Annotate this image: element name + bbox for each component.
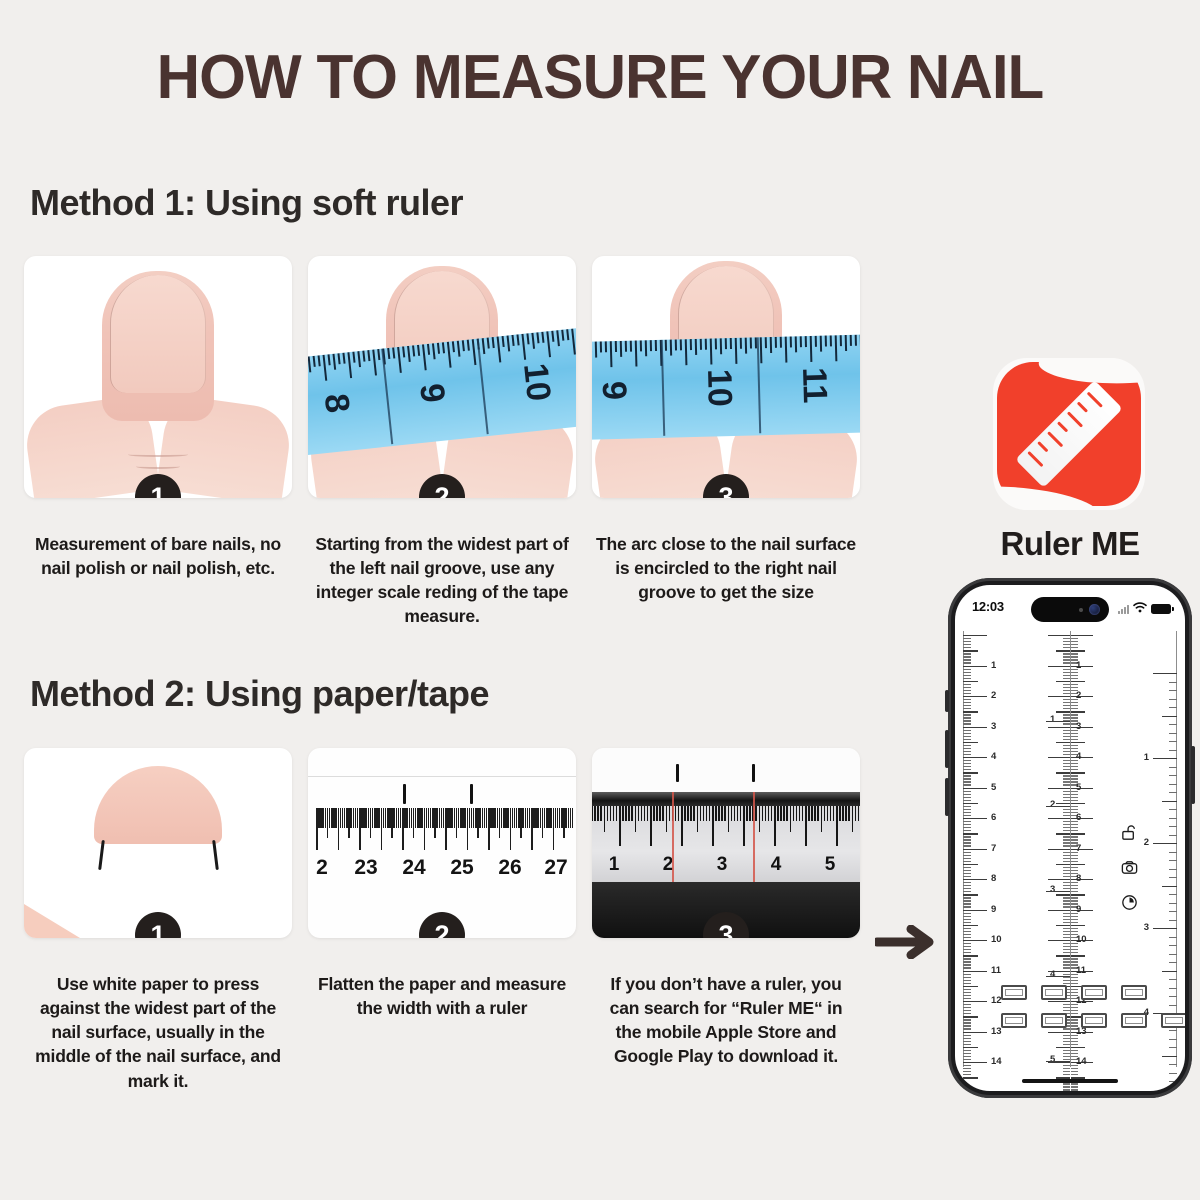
step-caption: The arc close to the nail surface is enc…: [592, 532, 860, 604]
step-card: 1 Measurement of bare nails, no nail pol…: [24, 256, 292, 629]
phone-ruler-photo: 1 2 3 4 5 3: [592, 748, 860, 938]
sensor-dot-icon: [1079, 608, 1083, 612]
step-caption: If you don’t have a ruler, you can searc…: [592, 972, 860, 1069]
silent-switch[interactable]: [945, 690, 949, 712]
tape-ticks: [592, 334, 860, 372]
pen-mark: [470, 784, 473, 804]
pen-mark: [403, 784, 406, 804]
pen-mark: [98, 840, 105, 870]
tape-measure-left-photo: 8 9 10 2: [308, 256, 576, 498]
volume-up-button[interactable]: [945, 730, 949, 768]
pen-mark: [752, 764, 755, 782]
nail-on-paper-photo: 1: [24, 748, 292, 938]
measurement-chip-row: [1001, 985, 1147, 1000]
ruler-numbers: 2 23 24 25 26 27: [316, 856, 568, 886]
ruler-scale-right: 12345: [1105, 631, 1177, 1067]
status-bar-indicators: [1118, 600, 1171, 618]
ruler-scale-center: 123456789101112131412345: [1024, 631, 1116, 1067]
measurement-chip: [1041, 985, 1067, 1000]
camera-icon[interactable]: [1120, 858, 1139, 877]
tape-number: 9: [411, 382, 452, 405]
ruler-number: 4: [771, 854, 782, 876]
ruler-number: 1: [609, 854, 620, 876]
ruler-number: 3: [717, 854, 728, 876]
tape-number: 9: [594, 381, 633, 401]
bare-nail-photo: 1: [24, 256, 292, 498]
ruler-number: 23: [354, 856, 377, 880]
printed-ruler-photo: 2 23 24 25 26 27 2: [308, 748, 576, 938]
measurement-marker: [672, 792, 674, 884]
app-name-label: Ruler ME: [930, 525, 1200, 563]
method-1-heading: Method 1: Using soft ruler: [30, 182, 463, 224]
method-1-steps: 1 Measurement of bare nails, no nail pol…: [24, 256, 860, 629]
step-caption: Flatten the paper and measure the width …: [308, 972, 576, 1020]
method-2-steps: 1 Use white paper to press against the w…: [24, 748, 860, 1093]
measurement-chip: [1081, 1013, 1107, 1028]
wifi-icon: [1133, 600, 1147, 618]
step-card: 1 Use white paper to press against the w…: [24, 748, 292, 1093]
finger-crease: [136, 464, 180, 469]
step-badge: 1: [135, 912, 181, 938]
phone-bezel: [592, 792, 860, 806]
cellular-signal-icon: [1118, 605, 1129, 614]
dynamic-island: [1031, 597, 1109, 622]
thumb-illustration: [24, 256, 292, 498]
finger-corner: [24, 904, 80, 938]
front-camera-icon: [1089, 604, 1100, 615]
step-card: 9 10 11 3 The arc close to the nail surf…: [592, 256, 860, 629]
step-card: 2 23 24 25 26 27 2 Flatten the paper and…: [308, 748, 576, 1093]
ruler-app-icon[interactable]: [993, 358, 1145, 510]
step-caption: Measurement of bare nails, no nail polis…: [24, 532, 292, 580]
measurement-chip-row: [1001, 1013, 1185, 1028]
paper-background: [592, 748, 860, 792]
nail-imprint: [94, 766, 222, 844]
method-2-heading: Method 2: Using paper/tape: [30, 673, 489, 715]
ruler-number: 26: [498, 856, 521, 880]
volume-down-button[interactable]: [945, 778, 949, 816]
pen-mark: [212, 840, 219, 870]
step-caption: Use white paper to press against the wid…: [24, 972, 292, 1093]
phone-ruler-scale: 1 2 3 4 5: [592, 806, 860, 882]
power-button[interactable]: [1191, 746, 1195, 804]
unlock-icon[interactable]: [1120, 823, 1139, 842]
ruler-number: 24: [402, 856, 425, 880]
tape-number: 8: [316, 392, 357, 415]
ruler-number: 27: [544, 856, 567, 880]
measurement-marker: [753, 792, 755, 884]
step-caption: Starting from the widest part of the lef…: [308, 532, 576, 629]
tape-number: 10: [699, 368, 739, 407]
paper-edge: [308, 776, 576, 777]
measurement-chip: [1001, 985, 1027, 1000]
step-card: 8 9 10 2 Starting from the widest part o…: [308, 256, 576, 629]
tool-icon-group: [1120, 823, 1139, 912]
battery-icon: [1151, 604, 1171, 614]
measurement-chip: [1121, 1013, 1147, 1028]
pen-mark: [676, 764, 679, 782]
tape-measure: 9 10 11: [592, 334, 860, 440]
status-bar-clock: 12:03: [972, 599, 1004, 614]
phone-screen: 12:03: [955, 585, 1185, 1091]
measurement-chip: [1081, 985, 1107, 1000]
nail-plate: [110, 275, 206, 393]
measurement-chip: [1001, 1013, 1027, 1028]
measurement-chip: [1161, 1013, 1185, 1028]
timer-icon[interactable]: [1120, 893, 1139, 912]
step-card: 1 2 3 4 5 3 If you don’t have a ruler, y…: [592, 748, 860, 1093]
measurement-chip: [1041, 1013, 1067, 1028]
measurement-chip: [1121, 985, 1147, 1000]
tape-measure-right-photo: 9 10 11 3: [592, 256, 860, 498]
step-badge: 2: [419, 912, 465, 938]
home-indicator[interactable]: [1022, 1079, 1118, 1083]
right-arrow-icon: [875, 925, 937, 959]
tape-number: 11: [794, 367, 834, 404]
ruler-number: 2: [316, 856, 328, 880]
tape-number: 10: [515, 361, 558, 403]
phone-mockup: 12:03: [948, 578, 1192, 1098]
ruler-number: 25: [450, 856, 473, 880]
ruler-number: 5: [825, 854, 836, 876]
page-title: HOW TO MEASURE YOUR NAIL: [18, 42, 1182, 113]
infographic-page: HOW TO MEASURE YOUR NAIL Method 1: Using…: [0, 0, 1200, 1200]
finger-crease: [128, 452, 188, 457]
ruler-ticks: [316, 808, 568, 852]
